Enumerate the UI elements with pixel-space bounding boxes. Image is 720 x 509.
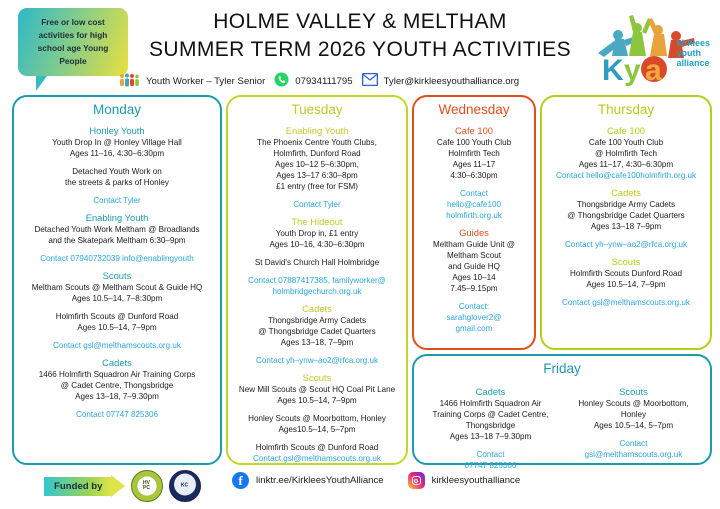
info-line: Honley — [565, 409, 702, 420]
facebook-handle: linktr.ee/KirkleesYouthAlliance — [256, 475, 384, 486]
info-line: Detached Youth Work Meltham @ Broadlands — [14, 224, 220, 235]
group-title: Guides — [414, 227, 534, 238]
poster: Free or low cost activities for high sch… — [0, 0, 720, 509]
info-line: Ages 10.5–14, 7–9pm — [228, 395, 406, 406]
header-contact-strip: Youth Worker – Tyler Senior 07934111795 … — [118, 72, 519, 90]
holme-valley-parish-council-logo: HVPC — [131, 470, 163, 502]
group-title: Cafe 100 — [414, 125, 534, 136]
social-links: f linktr.ee/KirkleesYouthAlliance kirkle… — [232, 472, 520, 489]
group-title: Cadets — [422, 386, 559, 397]
info-line: Ages 10–14 — [414, 272, 534, 283]
contact-phone-label: 07934111795 — [295, 76, 352, 87]
group-title: Cadets — [14, 357, 220, 368]
hv-logo-text: HVPC — [143, 481, 150, 491]
info-line: Ages 13–17 6:30–8pm — [228, 170, 406, 181]
contact-email[interactable]: Tyler@kirkleesyouthalliance.org — [362, 73, 520, 89]
callout-text: Free or low cost activities for high sch… — [18, 8, 128, 76]
contact-youth-worker: Youth Worker – Tyler Senior — [118, 73, 265, 90]
day-title-wednesday: Wednesday — [414, 102, 534, 119]
info-line: Ages 13–18 7–9.30pm — [422, 431, 559, 442]
group-title: Scouts — [14, 270, 220, 281]
info-line: £1 entry (free for FSM) — [228, 181, 406, 192]
funded-by-arrow — [111, 475, 125, 497]
kya-word-1: kirklees — [676, 38, 710, 48]
contact-line[interactable]: Contact — [414, 188, 534, 199]
info-line: @ Thongsbridge Cadet Quarters — [542, 210, 710, 221]
funded-by-block: Funded by HVPC KC — [44, 470, 201, 502]
group-title: Cadets — [542, 187, 710, 198]
day-title-friday: Friday — [414, 361, 710, 378]
info-line: Training Corps @ Cadet Centre, — [422, 409, 559, 420]
day-card-wednesday: Wednesday Cafe 100Cafe 100 Youth ClubHol… — [412, 95, 536, 350]
info-line: Meltham Guide Unit @ — [414, 239, 534, 250]
info-line: Ages 13–18, 7–9pm — [228, 337, 406, 348]
info-line: Ages 11–16, 4:30–6:30pm — [14, 148, 220, 159]
contact-line[interactable]: Contact — [565, 438, 702, 449]
info-line: Detached Youth Work on — [14, 166, 220, 177]
contact-line[interactable]: 07747 825306 — [422, 460, 559, 471]
info-line: @ Cadet Centre, Thongsbridge — [14, 380, 220, 391]
contact-line[interactable]: holmbridgechurch.org.uk — [228, 286, 406, 297]
info-line: Ages 10.5–14, 7–9pm — [14, 322, 220, 333]
info-line: Thongsbridge Army Cadets — [542, 199, 710, 210]
contact-line[interactable]: Contact Tyler — [14, 195, 220, 206]
info-line: Ages 10.5–14, 5–7pm — [565, 420, 702, 431]
contact-line[interactable]: hello@cafe100 — [414, 199, 534, 210]
info-line: Honley Scouts @ Moorbottom, — [565, 398, 702, 409]
contact-line[interactable]: gmail.com — [414, 323, 534, 334]
contact-line[interactable]: sarahglover2@ — [414, 312, 534, 323]
info-line: 4:30–6:30pm — [414, 170, 534, 181]
info-line: Ages 10.5–14, 7–9pm — [542, 279, 710, 290]
social-facebook[interactable]: f linktr.ee/KirkleesYouthAlliance — [232, 472, 384, 489]
info-line: Ages 11–17 — [414, 159, 534, 170]
day-body-thursday: Cafe 100Cafe 100 Youth Club@ Holmfirth T… — [542, 125, 710, 308]
info-line: and the Skatepark Meltham 6:30–9pm — [14, 235, 220, 246]
info-line: St David's Church Hall Holmbridge — [228, 257, 406, 268]
day-card-tuesday: Tuesday Enabling YouthThe Phoenix Centre… — [226, 95, 408, 465]
instagram-handle: kirkleesyouthalliance — [432, 475, 521, 486]
friday-column-scouts: ScoutsHonley Scouts @ Moorbottom,HonleyA… — [565, 380, 702, 471]
info-line: Ages10.5–14, 5–7pm — [228, 424, 406, 435]
group-title: Cafe 100 — [542, 125, 710, 136]
kya-logo: K y a kirklees youth alliance — [588, 8, 712, 86]
contact-line[interactable]: Contact yh–ynw–ao2@rfca.org.uk — [542, 239, 710, 250]
email-icon — [362, 73, 378, 89]
day-body-wednesday: Cafe 100Cafe 100 Youth ClubHolmfirth Tec… — [414, 125, 534, 334]
contact-youth-worker-label: Youth Worker – Tyler Senior — [146, 76, 265, 87]
info-line: Meltham Scout — [414, 250, 534, 261]
day-card-monday: Monday Honley YouthYouth Drop In @ Honle… — [12, 95, 222, 465]
contact-line[interactable]: Contact 07747 825306 — [14, 409, 220, 420]
group-title: Enabling Youth — [14, 212, 220, 223]
info-line: @ Holmfirth Tech — [542, 148, 710, 159]
info-line: @ Thongsbridge Cadet Quarters — [228, 326, 406, 337]
info-line: Holmfirth Scouts Dunford Road — [542, 268, 710, 279]
group-title: Enabling Youth — [228, 125, 406, 136]
contact-line[interactable]: Contact 07887417385, familyworker@ — [228, 275, 406, 286]
kya-wordmark: kirklees youth alliance — [676, 38, 710, 68]
kya-word-3: alliance — [676, 58, 710, 68]
info-line: Honley Scouts @ Moorbottom, Honley — [228, 413, 406, 424]
svg-text:a: a — [645, 54, 662, 86]
group-title: The Hideout — [228, 216, 406, 227]
contact-line[interactable]: Contact: — [414, 301, 534, 312]
info-line: The Phoenix Centre Youth Clubs, — [228, 137, 406, 148]
group-title: Cadets — [228, 303, 406, 314]
title-line-1: HOLME VALLEY & MELTHAM — [140, 8, 580, 36]
day-body-monday: Honley YouthYouth Drop In @ Honley Villa… — [14, 125, 220, 420]
page-title: HOLME VALLEY & MELTHAM SUMMER TERM 2026 … — [140, 8, 580, 65]
group-title: Scouts — [228, 372, 406, 383]
group-title: Scouts — [565, 386, 702, 397]
svg-text:y: y — [624, 54, 641, 86]
info-line: 1466 Holmfirth Squadron Air Training Cor… — [14, 369, 220, 380]
info-line: Holmfirth Scouts @ Dunford Road — [228, 442, 406, 453]
day-title-tuesday: Tuesday — [228, 102, 406, 119]
callout-tail — [36, 76, 47, 91]
info-line: Ages 10.5–14, 7–8:30pm — [14, 293, 220, 304]
group-title: Honley Youth — [14, 125, 220, 136]
info-line: 1466 Holmfirth Squadron Air — [422, 398, 559, 409]
contact-email-label: Tyler@kirkleesyouthalliance.org — [384, 76, 520, 87]
day-card-thursday: Thursday Cafe 100Cafe 100 Youth Club@ Ho… — [540, 95, 712, 350]
contact-line[interactable]: gsl@melthamscouts.org.uk — [565, 449, 702, 460]
day-title-thursday: Thursday — [542, 102, 710, 119]
friday-column-cadets: Cadets1466 Holmfirth Squadron AirTrainin… — [422, 380, 559, 471]
contact-line[interactable]: Contact yh–ynw–ao2@rfca.org.uk — [228, 355, 406, 366]
day-body-tuesday: Enabling YouthThe Phoenix Centre Youth C… — [228, 125, 406, 464]
friday-columns: Cadets1466 Holmfirth Squadron AirTrainin… — [414, 380, 710, 471]
contact-line[interactable]: Contact — [422, 449, 559, 460]
info-line: Youth Drop In @ Honley Village Hall — [14, 137, 220, 148]
contact-line[interactable]: holmfirth.org.uk — [414, 210, 534, 221]
callout-bubble: Free or low cost activities for high sch… — [18, 8, 128, 91]
info-line: Holmfirth, Dunford Road — [228, 148, 406, 159]
info-line: and Guide HQ — [414, 261, 534, 272]
contact-line[interactable]: Contact gsl@melthamscouts.org.uk — [542, 297, 710, 308]
info-line: Thongsbridge — [422, 420, 559, 431]
svg-text:K: K — [602, 54, 624, 86]
social-instagram[interactable]: kirkleesyouthalliance — [408, 472, 521, 489]
info-line: Cafe 100 Youth Club — [414, 137, 534, 148]
funded-by-label: Funded by — [44, 477, 111, 496]
info-line: Ages 13–18, 7–9.30pm — [14, 391, 220, 402]
group-title: Scouts — [542, 256, 710, 267]
info-line: Meltham Scouts @ Meltham Scout & Guide H… — [14, 282, 220, 293]
kirklees-council-logo: KC — [169, 470, 201, 502]
contact-phone[interactable]: 07934111795 — [274, 72, 352, 90]
kya-word-2: youth — [676, 48, 710, 58]
info-line: Cafe 100 Youth Club — [542, 137, 710, 148]
kc-logo-text: KC — [181, 484, 188, 489]
title-line-2: SUMMER TERM 2026 YOUTH ACTIVITIES — [140, 36, 580, 64]
contact-line[interactable]: Contact gsl@melthamscouts.org.uk — [228, 453, 406, 464]
info-line: Thongsbridge Army Cadets — [228, 315, 406, 326]
info-line: the streets & parks of Honley — [14, 177, 220, 188]
info-line: Holmfirth Scouts @ Dunford Road — [14, 311, 220, 322]
info-line: Ages 10–16, 4:30–6:30pm — [228, 239, 406, 250]
phone-icon — [274, 72, 289, 90]
contact-line[interactable]: Contact hello@cafe100holmfirth.org.uk — [542, 170, 710, 181]
info-line: Ages 11–17, 4:30–6:30pm — [542, 159, 710, 170]
info-line: Ages 10–12 5–6:30pm, — [228, 159, 406, 170]
contact-line[interactable]: Contact gsl@melthamscouts.org.uk — [14, 340, 220, 351]
contact-line[interactable]: Contact Tyler — [228, 199, 406, 210]
facebook-icon: f — [232, 472, 249, 489]
contact-line[interactable]: Contact 07940732039 info@enablingyouth — [14, 253, 220, 264]
people-icon — [118, 73, 140, 90]
day-title-monday: Monday — [14, 102, 220, 119]
instagram-icon — [408, 472, 425, 489]
info-line: Holmfirth Tech — [414, 148, 534, 159]
info-line: 7.45–9.15pm — [414, 283, 534, 294]
day-card-friday: Friday Cadets1466 Holmfirth Squadron Air… — [412, 354, 712, 465]
info-line: Ages 13–18 7–9pm — [542, 221, 710, 232]
info-line: Youth Drop in, £1 entry — [228, 228, 406, 239]
info-line: New Mill Scouts @ Scout HQ Coal Pit Lane — [228, 384, 406, 395]
